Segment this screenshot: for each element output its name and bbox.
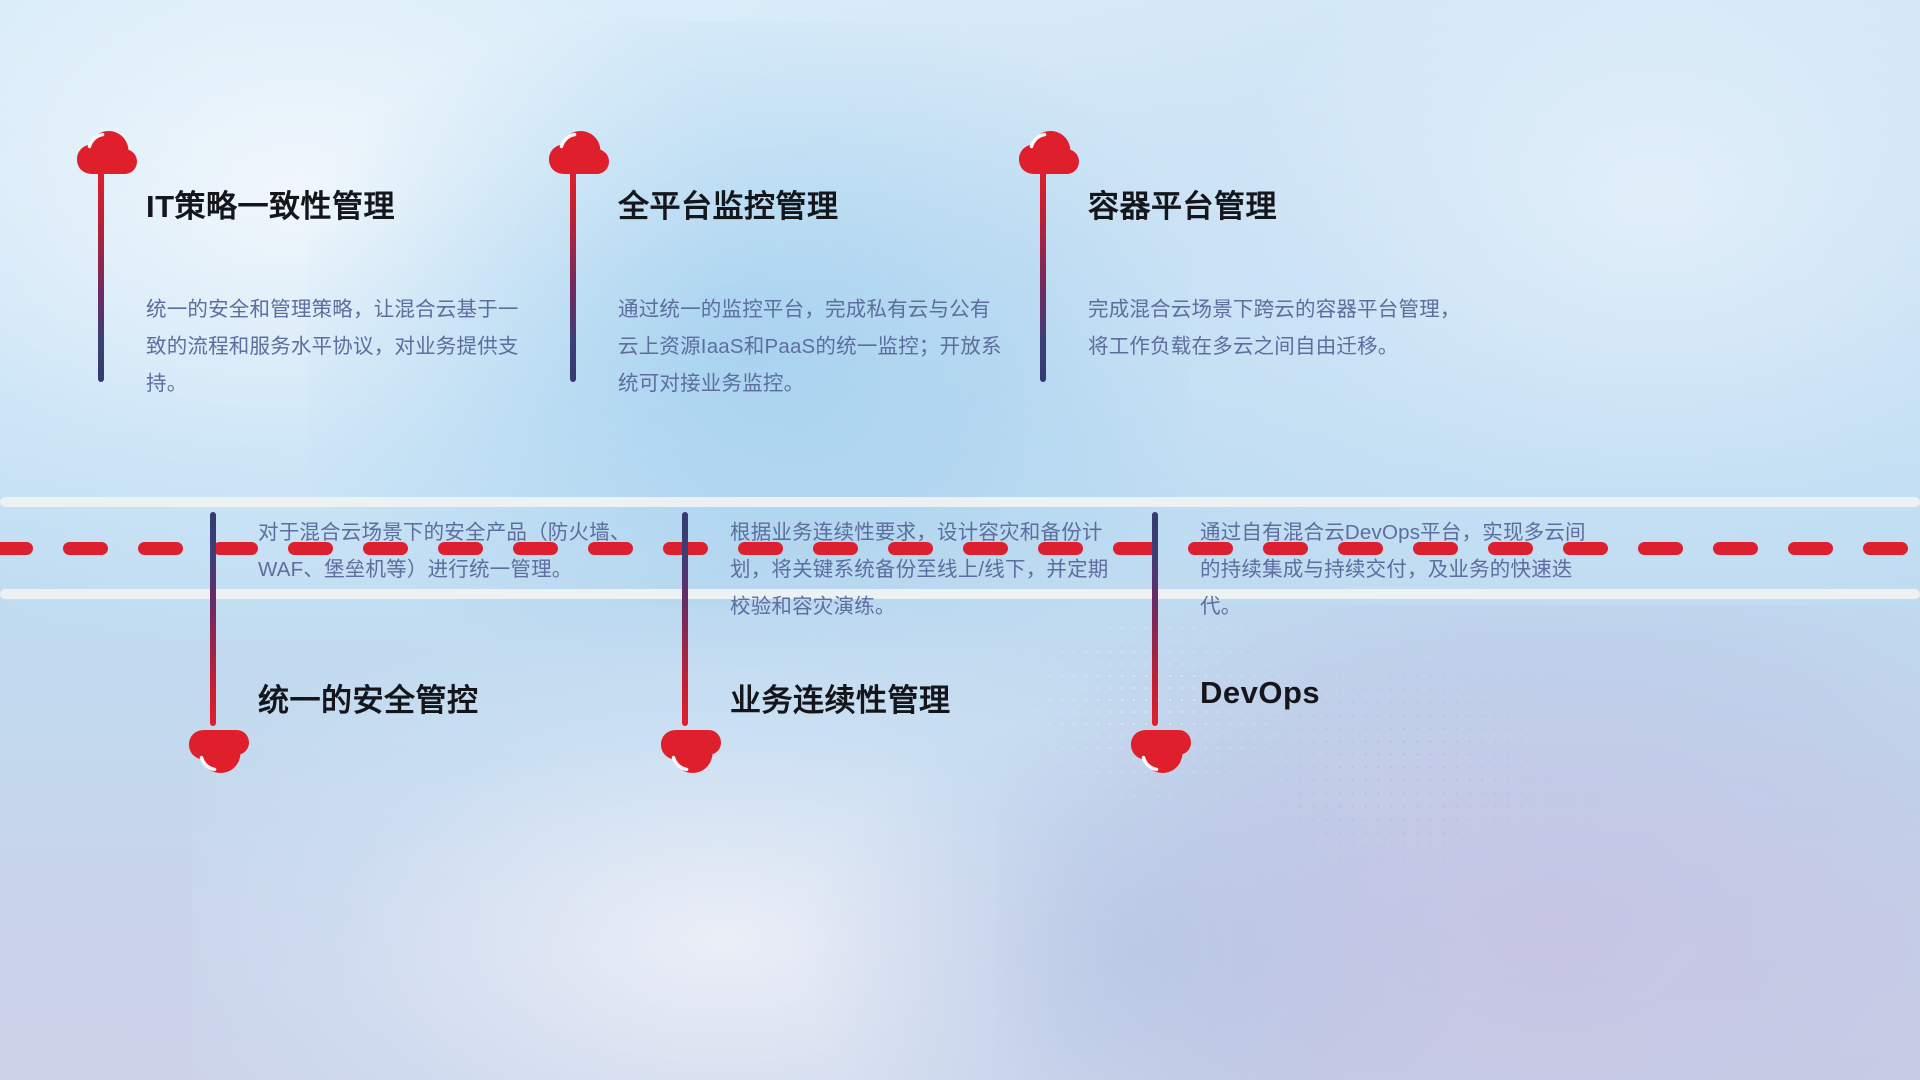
- stem-line: [98, 168, 104, 382]
- card-body: 对于混合云场景下的安全产品（防火墙、WAF、堡垒机等）进行统一管理。: [258, 514, 650, 588]
- card-body: 根据业务连续性要求，设计容灾和备份计划，将关键系统备份至线上/线下，并定期校验和…: [730, 514, 1122, 625]
- stem-line: [1040, 168, 1046, 382]
- road-dash: [1638, 542, 1683, 555]
- card-heading: 统一的安全管控: [258, 675, 479, 720]
- stem-line: [682, 512, 688, 726]
- road-edge-line-top: [0, 497, 1920, 507]
- card-body: 统一的安全和管理策略，让混合云基于一致的流程和服务水平协议，对业务提供支持。: [146, 291, 538, 402]
- cloud-icon: [1130, 728, 1192, 774]
- card-heading: 容器平台管理: [1088, 181, 1277, 226]
- cloud-icon: [76, 130, 138, 176]
- road-dash: [213, 542, 258, 555]
- stem-line: [1152, 512, 1158, 726]
- road-dash: [1788, 542, 1833, 555]
- road-dash: [0, 542, 33, 555]
- card-heading: 全平台监控管理: [618, 181, 839, 226]
- stem-line: [570, 168, 576, 382]
- road-dash: [63, 542, 108, 555]
- cloud-icon: [660, 728, 722, 774]
- cloud-icon: [188, 728, 250, 774]
- card-body: 通过统一的监控平台，完成私有云与公有云上资源IaaS和PaaS的统一监控；开放系…: [618, 291, 1010, 402]
- card-body: 完成混合云场景下跨云的容器平台管理，将工作负载在多云之间自由迁移。: [1088, 291, 1480, 365]
- card-heading: 业务连续性管理: [730, 675, 951, 720]
- road-dash: [138, 542, 183, 555]
- road-dash: [1863, 542, 1908, 555]
- cloud-icon: [548, 130, 610, 176]
- card-heading: IT策略一致性管理: [146, 181, 395, 226]
- background-dot-texture-pink: [1190, 605, 1612, 929]
- stem-line: [210, 512, 216, 726]
- card-body: 通过自有混合云DevOps平台，实现多云间的持续集成与持续交付，及业务的快速迭代…: [1200, 514, 1592, 625]
- road-dash: [1713, 542, 1758, 555]
- card-heading: DevOps: [1200, 675, 1320, 711]
- cloud-icon: [1018, 130, 1080, 176]
